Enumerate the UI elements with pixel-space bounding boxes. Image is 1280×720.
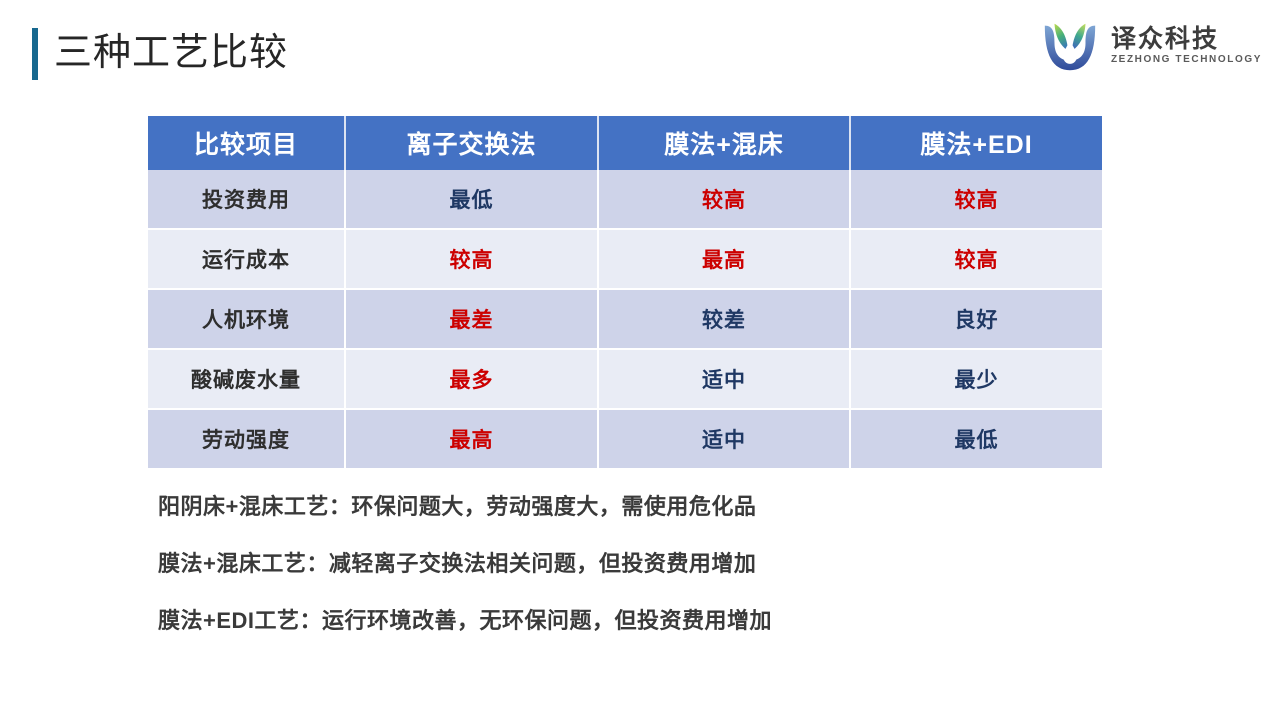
column-header-criteria: 比较项目	[148, 116, 346, 170]
company-logo: 译众科技 ZEZHONG TECHNOLOGY	[1039, 10, 1262, 80]
cell-environment-membrane-mixed-bed: 较差	[599, 290, 851, 350]
cell-wastewater-membrane-edi: 最少	[851, 350, 1102, 410]
cell-investment-membrane-edi: 较高	[851, 170, 1102, 230]
cell-environment-ion-exchange: 最差	[346, 290, 599, 350]
summary-notes: 阳阴床+混床工艺：环保问题大，劳动强度大，需使用危化品 膜法+混床工艺：减轻离子…	[158, 492, 1158, 636]
slide-header: 三种工艺比较	[0, 0, 1280, 100]
cell-environment-membrane-edi: 良好	[851, 290, 1102, 350]
cell-wastewater-membrane-mixed-bed: 适中	[599, 350, 851, 410]
row-label-labor-intensity: 劳动强度	[148, 410, 346, 468]
cell-operating-ion-exchange: 较高	[346, 230, 599, 290]
logo-name-en: ZEZHONG TECHNOLOGY	[1111, 53, 1262, 67]
column-header-membrane-mixed-bed: 膜法+混床	[599, 116, 851, 170]
cell-operating-membrane-mixed-bed: 最高	[599, 230, 851, 290]
table-row: 投资费用 最低 较高 较高	[148, 170, 1102, 230]
table-row: 运行成本 较高 最高 较高	[148, 230, 1102, 290]
lotus-droplet-icon	[1039, 14, 1101, 76]
table-row: 酸碱废水量 最多 适中 最少	[148, 350, 1102, 410]
cell-investment-membrane-mixed-bed: 较高	[599, 170, 851, 230]
note-line-ion-exchange: 阳阴床+混床工艺：环保问题大，劳动强度大，需使用危化品	[158, 492, 1158, 522]
cell-investment-ion-exchange: 最低	[346, 170, 599, 230]
column-header-ion-exchange: 离子交换法	[346, 116, 599, 170]
cell-wastewater-ion-exchange: 最多	[346, 350, 599, 410]
row-label-acid-alkali-wastewater: 酸碱废水量	[148, 350, 346, 410]
note-line-membrane-mixed-bed: 膜法+混床工艺：减轻离子交换法相关问题，但投资费用增加	[158, 549, 1158, 579]
title-accent-bar	[32, 28, 38, 80]
column-header-membrane-edi: 膜法+EDI	[851, 116, 1102, 170]
table-row: 人机环境 最差 较差 良好	[148, 290, 1102, 350]
note-line-membrane-edi: 膜法+EDI工艺：运行环境改善，无环保问题，但投资费用增加	[158, 606, 1158, 636]
cell-operating-membrane-edi: 较高	[851, 230, 1102, 290]
logo-name-cn: 译众科技	[1111, 25, 1262, 53]
table-row: 劳动强度 最高 适中 最低	[148, 410, 1102, 468]
page-title: 三种工艺比较	[54, 24, 288, 82]
row-label-work-environment: 人机环境	[148, 290, 346, 350]
cell-labor-membrane-edi: 最低	[851, 410, 1102, 468]
table-header-row: 比较项目 离子交换法 膜法+混床 膜法+EDI	[148, 116, 1102, 170]
cell-labor-membrane-mixed-bed: 适中	[599, 410, 851, 468]
row-label-investment-cost: 投资费用	[148, 170, 346, 230]
row-label-operating-cost: 运行成本	[148, 230, 346, 290]
logo-wordmark: 译众科技 ZEZHONG TECHNOLOGY	[1111, 23, 1262, 67]
cell-labor-ion-exchange: 最高	[346, 410, 599, 468]
process-comparison-table: 比较项目 离子交换法 膜法+混床 膜法+EDI 投资费用 最低 较高 较高 运行…	[148, 116, 1102, 468]
